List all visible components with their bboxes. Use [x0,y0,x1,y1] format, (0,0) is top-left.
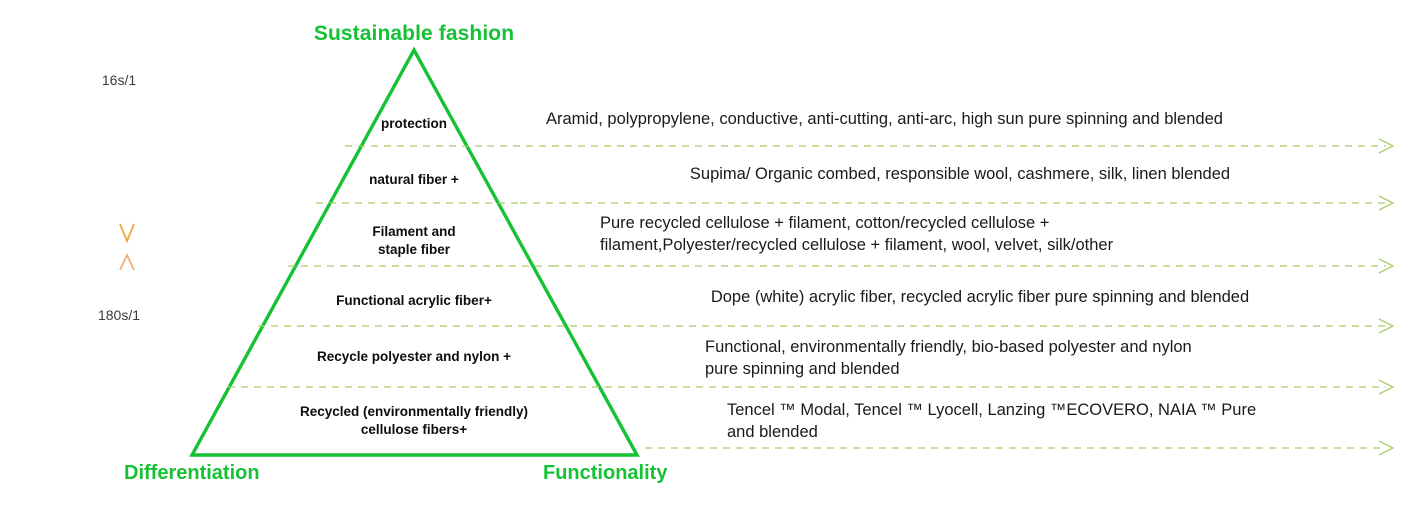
axis-label-differentiation: Differentiation [124,462,260,485]
tier-label-filament-staple-fiber: Filament and staple fiber [234,223,594,259]
connector-arrow-2 [520,196,1393,210]
connector-arrow-1 [487,139,1393,153]
connector-arrow-6 [645,441,1393,455]
tier-label-recycle-polyester-nylon: Recycle polyester and nylon + [234,348,594,366]
yarn-count-label-coarse: 180s/1 [74,307,164,323]
connector-arrow-4 [585,319,1393,333]
tier-description-filament-staple-fiber: Pure recycled cellulose + filament, cott… [600,212,1360,256]
count-scale-down-arrow [120,96,134,241]
tier-description-natural-fiber: Supima/ Organic combed, responsible wool… [560,163,1360,185]
tier-label-natural-fiber: natural fiber + [234,171,594,189]
tier-label-functional-acrylic-fiber: Functional acrylic fiber+ [234,292,594,310]
tier-label-recycled-cellulose-fibers: Recycled (environmentally friendly) cell… [234,403,594,439]
count-scale-up-arrow [120,255,134,300]
yarn-count-label-fine: 16s/1 [74,72,164,88]
tier-description-functional-acrylic-fiber: Dope (white) acrylic fiber, recycled acr… [600,286,1360,308]
axis-label-functionality: Functionality [543,462,667,485]
tier-description-recycle-polyester-nylon: Functional, environmentally friendly, bi… [705,336,1365,380]
connector-arrow-3 [552,259,1393,273]
tier-label-protection: protection [234,115,594,133]
connector-arrow-5 [618,380,1393,394]
page-title: Sustainable fashion [0,22,828,46]
sustainable-fashion-pyramid-diagram: Sustainable fashion Differentiation Func… [0,0,1410,505]
tier-description-recycled-cellulose-fibers: Tencel ™ Modal, Tencel ™ Lyocell, Lanzin… [727,399,1367,443]
tier-description-protection: Aramid, polypropylene, conductive, anti-… [546,108,1376,130]
